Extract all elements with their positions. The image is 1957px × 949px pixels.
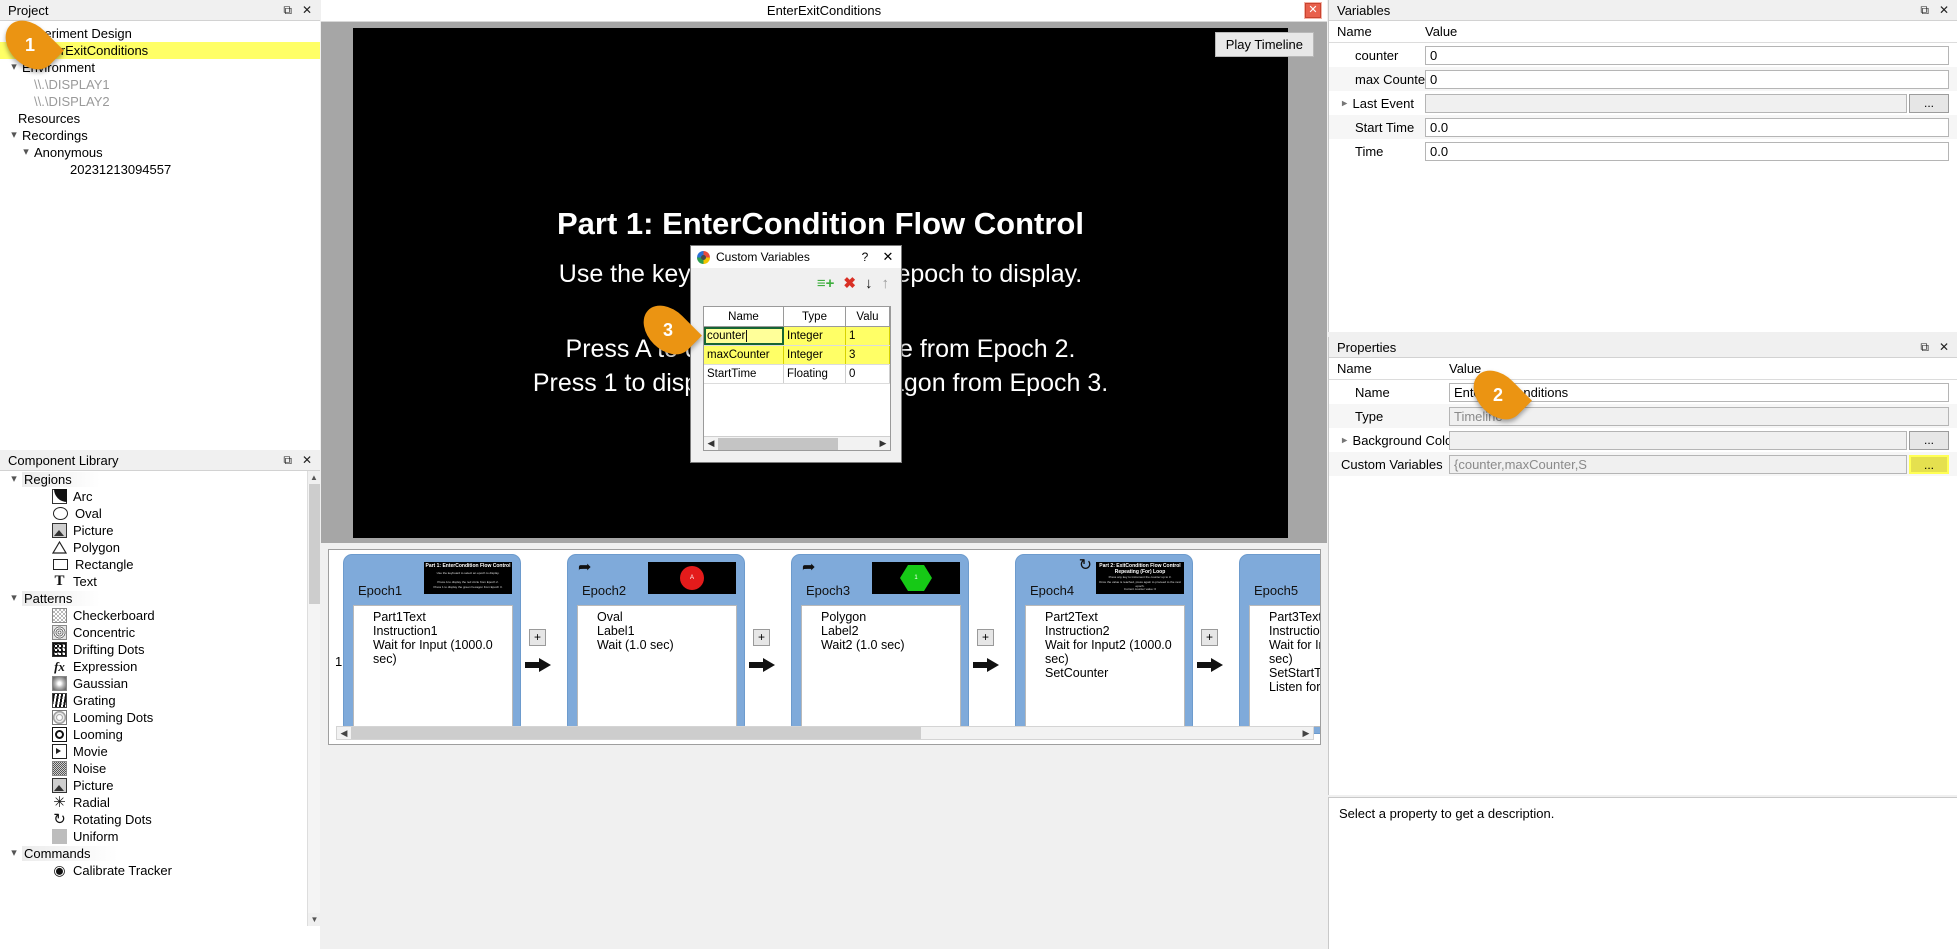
rotating-dots-icon [52, 812, 67, 827]
dialog-row-maxcounter[interactable]: maxCounter Integer 3 [704, 346, 890, 365]
tree-item-display2[interactable]: \\.\DISPLAY2 [0, 93, 320, 110]
add-epoch-button[interactable]: + [753, 629, 770, 646]
scrollbar-track[interactable] [718, 438, 876, 450]
epoch-component[interactable]: Oval [597, 610, 736, 624]
add-variable-button[interactable]: ≡+ [817, 276, 835, 291]
timeline-row-number: 1 [335, 654, 342, 669]
chevron-down-icon[interactable]: ▾ [6, 848, 22, 859]
variables-grid-header: Name Value [1329, 21, 1957, 43]
chevron-down-icon[interactable]: ▾ [6, 130, 22, 141]
thumb-line: Press any key to set the StartTime, enab… [1320, 578, 1321, 582]
variable-row-start-time[interactable]: Start Time 0.0 [1329, 115, 1957, 139]
scroll-right-icon[interactable]: ▶ [1299, 728, 1313, 739]
column-header-value: Value [1449, 361, 1957, 376]
restore-icon[interactable]: ⧉ [283, 454, 292, 466]
project-panel-title: Project [8, 3, 283, 18]
component-item-text[interactable]: T Text [0, 573, 320, 590]
tree-item-display1[interactable]: \\.\DISPLAY1 [0, 76, 320, 93]
column-header-name: Name [1329, 361, 1449, 376]
tree-item-label: Recordings [22, 128, 88, 143]
property-value-input[interactable] [1449, 431, 1907, 450]
custom-variables-dialog[interactable]: Custom Variables ? ✕ ≡+ ✖ ↓ ↑ Name Type … [690, 245, 902, 463]
dialog-value-cell[interactable]: 1 [846, 327, 890, 345]
close-icon[interactable]: ✕ [1939, 4, 1949, 16]
thumb-line: Press 1 to display the green hexagon fro… [424, 585, 512, 589]
component-item-oval[interactable]: Oval [0, 505, 320, 522]
description-panel: Select a property to get a description. [1328, 797, 1957, 949]
component-item-gaussian[interactable]: Gaussian [0, 675, 320, 692]
component-item-label: Concentric [73, 625, 135, 640]
thumb-line: Press A to display the red circle from E… [424, 580, 512, 584]
epoch-component[interactable]: Wait (1.0 sec) [597, 638, 736, 652]
dialog-name-cell[interactable]: StartTime [704, 365, 784, 383]
chevron-down-icon[interactable]: ▾ [6, 593, 22, 604]
epoch-component-list[interactable]: Part3Text Instruction3 Wait for Input3 (… [1249, 605, 1321, 727]
tree-item-label: 20231213094557 [70, 162, 171, 177]
epoch-name: Epoch3 [806, 583, 850, 598]
property-value-input[interactable]: {counter,maxCounter,S [1449, 455, 1907, 474]
properties-panel: Properties ⧉ ✕ Name Value Name EnterExit… [1328, 337, 1957, 795]
epoch-component[interactable]: Polygon [821, 610, 960, 624]
arrow-enter-icon: ➦ [578, 560, 591, 576]
scrollbar-thumb[interactable] [718, 438, 838, 450]
component-item-concentric[interactable]: Concentric [0, 624, 320, 641]
column-header-value: Valu [846, 307, 890, 326]
epoch-component[interactable]: Wait for Input3 (1000.0 sec) [1269, 638, 1321, 666]
variable-row-time[interactable]: Time 0.0 [1329, 139, 1957, 163]
dialog-row-counter[interactable]: counter Integer 1 [704, 327, 890, 346]
chevron-right-icon[interactable]: ▾ [1337, 100, 1350, 106]
play-timeline-button[interactable]: Play Timeline [1215, 32, 1314, 57]
epoch-component[interactable]: Wait for Input (1000.0 sec) [373, 638, 512, 666]
flow-arrow-icon [973, 658, 999, 672]
component-item-polygon[interactable]: Polygon [0, 539, 320, 556]
movie-icon [52, 744, 67, 759]
picture-icon [52, 778, 67, 793]
component-group-label: Regions [22, 472, 100, 487]
component-item-label: Polygon [73, 540, 120, 555]
dialog-type-cell[interactable]: Integer [784, 346, 846, 364]
gaussian-icon [52, 676, 67, 691]
variable-name: Start Time [1329, 120, 1425, 135]
component-item-rotating-dots[interactable]: Rotating Dots [0, 811, 320, 828]
epoch-name: Epoch4 [1030, 583, 1074, 598]
callout-number: 2 [1470, 375, 1526, 415]
document-title: EnterExitConditions [767, 3, 881, 18]
project-panel: Project ⧉ ✕ ▾ Experiment Design ▾ EnterE… [0, 0, 320, 450]
component-library-panel: Component Library ⧉ ✕ ▾ Regions Arc Oval [0, 450, 320, 949]
component-item-label: Picture [73, 778, 113, 793]
variable-value-input[interactable]: 0.0 [1425, 142, 1949, 161]
column-header-value: Value [1425, 24, 1957, 39]
dialog-row-starttime[interactable]: StartTime Floating 0 [704, 365, 890, 384]
component-item-label: Looming [73, 727, 123, 742]
restore-icon[interactable]: ⧉ [1920, 4, 1929, 16]
arrow-enter-icon: ➦ [802, 560, 815, 576]
variable-value-input[interactable]: 0 [1425, 46, 1949, 65]
radial-icon [52, 795, 67, 810]
property-name: Name [1329, 385, 1449, 400]
properties-panel-title: Properties [1337, 340, 1920, 355]
scrollbar-track[interactable] [351, 727, 1299, 739]
flow-arrow-icon [525, 658, 551, 672]
dialog-name-cell[interactable]: counter [704, 327, 784, 345]
variable-browse-button[interactable]: ... [1909, 94, 1949, 113]
component-item-rectangle[interactable]: Rectangle [0, 556, 320, 573]
epoch-card-2[interactable]: ➦ Epoch2 A Oval Label1 Wait (1.0 sec) [567, 554, 745, 734]
epoch-connector-2: + [745, 554, 791, 734]
variable-name: Time [1329, 144, 1425, 159]
dialog-grid-header: Name Type Valu [704, 307, 890, 327]
close-icon[interactable]: ✕ [302, 4, 312, 16]
delete-variable-button[interactable]: ✖ [843, 276, 856, 291]
chevron-right-icon[interactable]: ▾ [1337, 437, 1350, 443]
tree-item-label: Anonymous [34, 145, 103, 160]
component-library-title: Component Library [8, 453, 283, 468]
variables-panel-title: Variables [1337, 3, 1920, 18]
component-library-scrollbar[interactable]: ▲ ▼ [307, 471, 320, 926]
looming-dots-icon [52, 710, 67, 725]
component-item-label: Text [73, 574, 97, 589]
description-text: Select a property to get a description. [1339, 806, 1554, 821]
epoch-thumbnail: Part 1: EnterCondition Flow Control Use … [424, 562, 512, 594]
dialog-value-cell[interactable]: 0 [846, 365, 890, 383]
variable-row-max-counter[interactable]: max Counter 0 [1329, 67, 1957, 91]
noise-icon [52, 761, 67, 776]
column-header-name: Name [704, 307, 784, 326]
text-icon: T [52, 574, 67, 589]
component-item-checkerboard[interactable]: Checkerboard [0, 607, 320, 624]
property-row-type[interactable]: Type Timeline [1329, 404, 1957, 428]
dialog-value-cell[interactable]: 3 [846, 346, 890, 364]
add-epoch-button[interactable]: + [529, 629, 546, 646]
component-group-commands[interactable]: ▾ Commands [0, 845, 320, 862]
properties-panel-titlebar: Properties ⧉ ✕ [1329, 337, 1957, 358]
component-item-calibrate-tracker[interactable]: Calibrate Tracker [0, 862, 320, 879]
dialog-type-cell[interactable]: Integer [784, 327, 846, 345]
tree-item-label: Resources [18, 111, 80, 126]
component-item-label: Drifting Dots [73, 642, 145, 657]
property-name: Custom Variables [1329, 457, 1449, 472]
background-color-browse-button[interactable]: ... [1909, 431, 1949, 450]
epoch-component[interactable]: Listen for Inputs [1269, 680, 1321, 694]
scroll-down-icon[interactable]: ▼ [308, 913, 320, 926]
flow-arrow-icon [749, 658, 775, 672]
epoch-component-list[interactable]: Polygon Label2 Wait2 (1.0 sec) [801, 605, 961, 727]
epoch-thumbnail: Part 3: ExitCondition Flow Control Timeo… [1320, 562, 1321, 594]
epoch-name: Epoch5 [1254, 583, 1298, 598]
epoch-card-4[interactable]: ↻ Epoch4 Part 2: ExitCondition Flow Cont… [1015, 554, 1193, 734]
variables-panel: Variables ⧉ ✕ Name Value counter 0 max C… [1328, 0, 1957, 332]
component-group-regions[interactable]: ▾ Regions [0, 471, 320, 488]
variable-value-input[interactable] [1425, 94, 1907, 113]
tree-item-label: \\.\DISPLAY1 [34, 77, 110, 92]
looming-icon [52, 727, 67, 742]
variable-name: max Counter [1329, 72, 1425, 87]
callout-number: 1 [2, 25, 58, 65]
epoch-component[interactable]: Part2Text [1045, 610, 1184, 624]
document-titlebar: EnterExitConditions ✕ [321, 0, 1327, 22]
property-name: Background Color [1353, 433, 1457, 448]
stage-title-text: Part 1: EnterCondition Flow Control [353, 206, 1288, 242]
flow-arrow-icon [1197, 658, 1223, 672]
picture-icon [52, 523, 67, 538]
polygon-icon [52, 540, 67, 555]
grating-icon [52, 693, 67, 708]
component-item-drifting-dots[interactable]: Drifting Dots [0, 641, 320, 658]
component-item-looming[interactable]: Looming [0, 726, 320, 743]
loop-repeat-icon: ↻ [1079, 558, 1092, 574]
component-item-label: Oval [75, 506, 102, 521]
epoch-component-list[interactable]: Part1Text Instruction1 Wait for Input (1… [353, 605, 513, 727]
eye-icon [52, 863, 67, 878]
dialog-type-cell[interactable]: Floating [784, 365, 846, 383]
application-window: Project ⧉ ✕ ▾ Experiment Design ▾ EnterE… [0, 0, 1957, 949]
dialog-grid-scrollbar[interactable]: ◀ ▶ [704, 436, 890, 450]
component-item-label: Noise [73, 761, 106, 776]
close-icon[interactable]: ✕ [1939, 341, 1949, 353]
thumb-line: Use the keyboard to select an epoch to d… [424, 571, 512, 575]
epoch-name: Epoch2 [582, 583, 626, 598]
checkerboard-icon [52, 608, 67, 623]
scrollbar-thumb[interactable] [351, 727, 921, 739]
epoch-component[interactable]: Part3Text [1269, 610, 1321, 624]
variable-name: counter [1329, 48, 1425, 63]
epoch-card-5[interactable]: Epoch5 Part 3: ExitCondition Flow Contro… [1239, 554, 1321, 734]
concentric-icon [52, 625, 67, 640]
epoch-connector-3: + [969, 554, 1015, 734]
epoch-component[interactable]: Label1 [597, 624, 736, 638]
thumb-line: Current counter value: 0 [1096, 587, 1184, 591]
variable-row-last-event[interactable]: ▾ Last Event ... [1329, 91, 1957, 115]
chevron-down-icon[interactable]: ▾ [18, 147, 34, 158]
properties-grid-header: Name Value [1329, 358, 1957, 380]
tree-item-recording-session[interactable]: 20231213094557 [0, 161, 320, 178]
thumb-hexagon: 1 [900, 565, 932, 591]
arc-icon [52, 489, 67, 504]
restore-icon[interactable]: ⧉ [283, 4, 292, 16]
epoch-name: Epoch1 [358, 583, 402, 598]
component-item-grating[interactable]: Grating [0, 692, 320, 709]
component-item-expression[interactable]: fx Expression [0, 658, 320, 675]
close-icon[interactable]: ✕ [302, 454, 312, 466]
close-icon[interactable]: ✕ [879, 249, 897, 265]
text-caret [746, 330, 747, 342]
component-group-label: Patterns [22, 591, 100, 606]
epoch-card-1[interactable]: Epoch1 Part 1: EnterCondition Flow Contr… [343, 554, 521, 734]
dialog-name-cell[interactable]: maxCounter [704, 346, 784, 364]
epoch-component[interactable]: Wait2 (1.0 sec) [821, 638, 960, 652]
scroll-right-icon[interactable]: ▶ [876, 438, 890, 449]
help-icon[interactable]: ? [857, 250, 873, 264]
property-row-name[interactable]: Name EnterExitConditions [1329, 380, 1957, 404]
thumb-title: Part 2: ExitCondition Flow Control Repea… [1096, 563, 1184, 575]
expression-icon: fx [52, 659, 67, 674]
rectangle-icon [53, 559, 68, 570]
variable-value-input[interactable]: 0 [1425, 70, 1949, 89]
dialog-titlebar: Custom Variables ? ✕ [691, 246, 901, 268]
project-panel-titlebar: Project ⧉ ✕ [0, 0, 320, 21]
dialog-toolbar: ≡+ ✖ ↓ ↑ [691, 268, 901, 298]
variable-name: Last Event [1353, 96, 1414, 111]
component-item-label: Arc [73, 489, 93, 504]
epoch-connector-1: + [521, 554, 567, 734]
tree-item-recordings[interactable]: ▾ Recordings [0, 127, 320, 144]
thumb-line: and begin presentation of the next epoch… [1320, 584, 1321, 588]
variable-value-input[interactable]: 0.0 [1425, 118, 1949, 137]
chevron-down-icon[interactable]: ▾ [6, 474, 22, 485]
component-item-label: Movie [73, 744, 108, 759]
app-logo-icon [697, 251, 710, 264]
timeline-editor[interactable]: 1 Epoch1 Part 1: EnterCondition Flow Con… [328, 549, 1321, 745]
component-item-label: Rotating Dots [73, 812, 152, 827]
callout-number: 3 [640, 310, 696, 350]
oval-icon [53, 507, 68, 520]
tree-item-anonymous[interactable]: ▾ Anonymous [0, 144, 320, 161]
epoch-component[interactable]: Instruction3 [1269, 624, 1321, 638]
tree-item-resources[interactable]: Resources [0, 110, 320, 127]
epoch-component[interactable]: Instruction2 [1045, 624, 1184, 638]
component-item-label: Gaussian [73, 676, 128, 691]
component-item-picture[interactable]: Picture [0, 522, 320, 539]
component-item-label: Looming Dots [73, 710, 153, 725]
right-dock: Variables ⧉ ✕ Name Value counter 0 max C… [1328, 0, 1957, 949]
epoch-component[interactable]: Part1Text [373, 610, 512, 624]
component-group-label: Commands [22, 846, 118, 861]
component-item-uniform[interactable]: Uniform [0, 828, 320, 845]
epoch-component[interactable]: SetCounter [1045, 666, 1184, 680]
restore-icon[interactable]: ⧉ [1920, 341, 1929, 353]
move-up-button[interactable]: ↑ [882, 276, 890, 291]
component-group-patterns[interactable]: ▾ Patterns [0, 590, 320, 607]
epoch-component[interactable]: Wait for Input2 (1000.0 sec) [1045, 638, 1184, 666]
cell-text: counter [707, 330, 745, 342]
epoch-component-list[interactable]: Oval Label1 Wait (1.0 sec) [577, 605, 737, 727]
component-item-label: Rectangle [75, 557, 134, 572]
epoch-list: Epoch1 Part 1: EnterCondition Flow Contr… [343, 554, 1321, 734]
property-row-custom-variables[interactable]: Custom Variables {counter,maxCounter,S .… [1329, 452, 1957, 476]
epoch-thumbnail: Part 2: ExitCondition Flow Control Repea… [1096, 562, 1184, 594]
custom-variables-dots-button[interactable]: ... [1909, 455, 1949, 474]
component-item-picture-pattern[interactable]: Picture [0, 777, 320, 794]
epoch-connector-4: + [1193, 554, 1239, 734]
tree-item-label: \\.\DISPLAY2 [34, 94, 110, 109]
epoch-component-list[interactable]: Part2Text Instruction2 Wait for Input2 (… [1025, 605, 1185, 727]
drifting-dots-icon [52, 642, 67, 657]
component-item-label: Uniform [73, 829, 119, 844]
add-epoch-button[interactable]: + [977, 629, 994, 646]
component-item-arc[interactable]: Arc [0, 488, 320, 505]
dialog-variables-grid[interactable]: Name Type Valu counter Integer 1 maxCoun… [703, 306, 891, 451]
component-item-label: Picture [73, 523, 113, 538]
epoch-component[interactable]: SetStartTime [1269, 666, 1321, 680]
move-down-button[interactable]: ↓ [865, 276, 873, 291]
column-header-type: Type [784, 307, 846, 326]
component-item-noise[interactable]: Noise [0, 760, 320, 777]
component-item-label: Checkerboard [73, 608, 155, 623]
property-row-background-color[interactable]: ▾ Background Color ... [1329, 428, 1957, 452]
scroll-left-icon[interactable]: ◀ [337, 728, 351, 739]
thumb-title: Part 3: ExitCondition Flow Control Timeo… [1320, 563, 1321, 581]
close-icon[interactable]: ✕ [1305, 3, 1321, 18]
epoch-thumbnail: A [648, 562, 736, 594]
add-epoch-button[interactable]: + [1201, 629, 1218, 646]
property-name: Type [1329, 409, 1449, 424]
thumb-line: Press any key to increment the counter u… [1096, 575, 1184, 579]
uniform-icon [52, 829, 67, 844]
component-item-label: Calibrate Tracker [73, 863, 172, 878]
scrollbar-thumb[interactable] [309, 484, 320, 604]
thumb-circle: A [680, 566, 704, 590]
scroll-up-icon[interactable]: ▲ [308, 471, 320, 484]
component-library-list[interactable]: ▾ Regions Arc Oval Picture [0, 471, 320, 926]
component-item-movie[interactable]: Movie [0, 743, 320, 760]
epoch-component[interactable]: Instruction1 [373, 624, 512, 638]
timeline-horizontal-scrollbar[interactable]: ◀ ▶ [336, 726, 1314, 740]
column-header-name: Name [1329, 24, 1425, 39]
component-library-titlebar: Component Library ⧉ ✕ [0, 450, 320, 471]
thumb-title: Part 1: EnterCondition Flow Control [424, 563, 512, 569]
epoch-thumbnail: 1 [872, 562, 960, 594]
scroll-left-icon[interactable]: ◀ [704, 438, 718, 449]
component-item-radial[interactable]: Radial [0, 794, 320, 811]
dialog-title: Custom Variables [716, 250, 851, 264]
epoch-component[interactable]: Label2 [821, 624, 960, 638]
component-item-label: Radial [73, 795, 110, 810]
left-dock: Project ⧉ ✕ ▾ Experiment Design ▾ EnterE… [0, 0, 320, 949]
component-item-looming-dots[interactable]: Looming Dots [0, 709, 320, 726]
epoch-card-3[interactable]: ➦ Epoch3 1 Polygon Label2 Wait2 (1.0 sec… [791, 554, 969, 734]
center-area: EnterExitConditions ✕ Part 1: EnterCondi… [321, 0, 1327, 949]
variables-panel-titlebar: Variables ⧉ ✕ [1329, 0, 1957, 21]
variable-row-counter[interactable]: counter 0 [1329, 43, 1957, 67]
component-item-label: Grating [73, 693, 116, 708]
component-item-label: Expression [73, 659, 137, 674]
